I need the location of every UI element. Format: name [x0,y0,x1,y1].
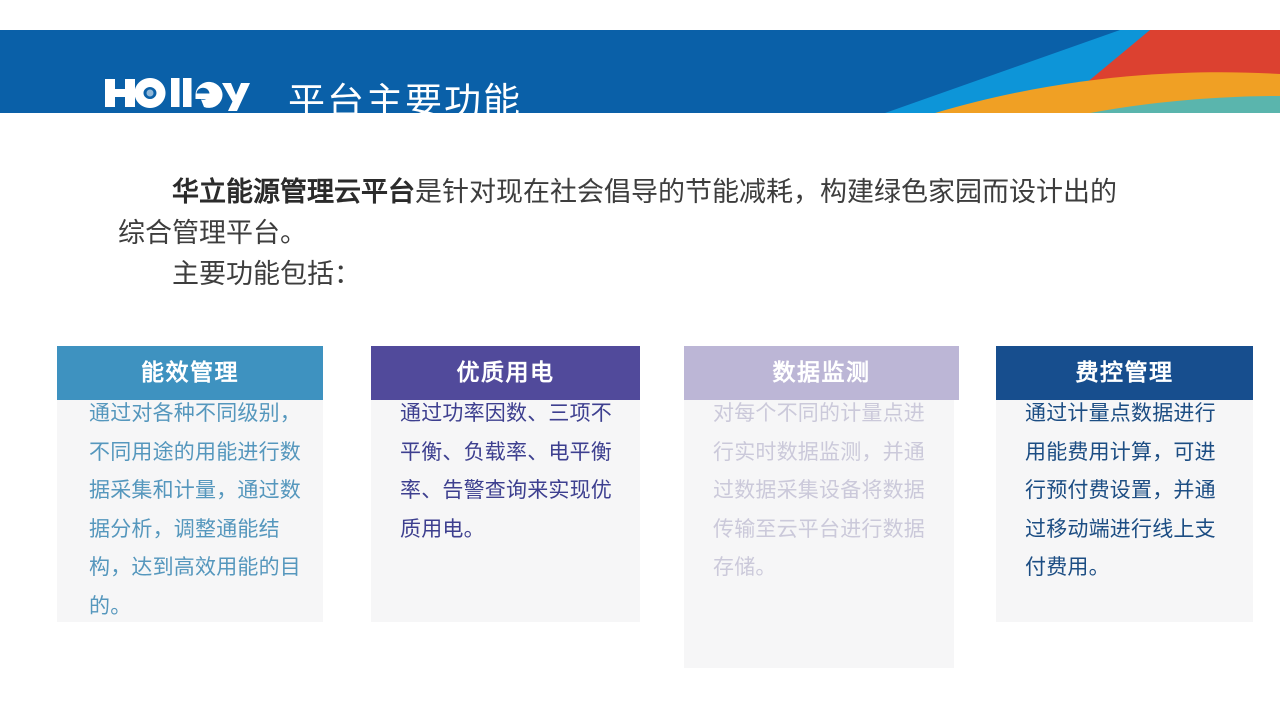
feature-card-description: 对每个不同的计量点进行实时数据监测，并通过数据采集设备将数据传输至云平台进行数据… [713,394,927,587]
feature-card-title: 能效管理 [141,359,239,387]
feature-card-header: 费控管理 [996,346,1253,400]
feature-card-header: 数据监测 [684,346,959,400]
feature-card-description: 通过功率因数、三项不平衡、负载率、电平衡率、告警查询来实现优质用电。 [400,394,614,548]
feature-card-title: 数据监测 [773,359,871,387]
feature-card-description: 通过对各种不同级别，不同用途的用能进行数据采集和计量，通过数据分析，调整通能结构… [89,394,301,625]
slide-canvas: TECH 华立科技 平台主要功能 华立能源管理云平台是针对现在社会倡导的节能减耗… [0,0,1280,720]
feature-card-header: 优质用电 [371,346,640,400]
feature-card-title: 费控管理 [1076,359,1174,387]
feature-cards-row: 能效管理 通过对各种不同级别，不同用途的用能进行数据采集和计量，通过数据分析，调… [0,0,1280,720]
feature-card-header: 能效管理 [57,346,323,400]
feature-card-description: 通过计量点数据进行用能费用计算，可进行预付费设置，并通过移动端进行线上支付费用。 [1025,394,1235,587]
feature-card-title: 优质用电 [457,359,555,387]
